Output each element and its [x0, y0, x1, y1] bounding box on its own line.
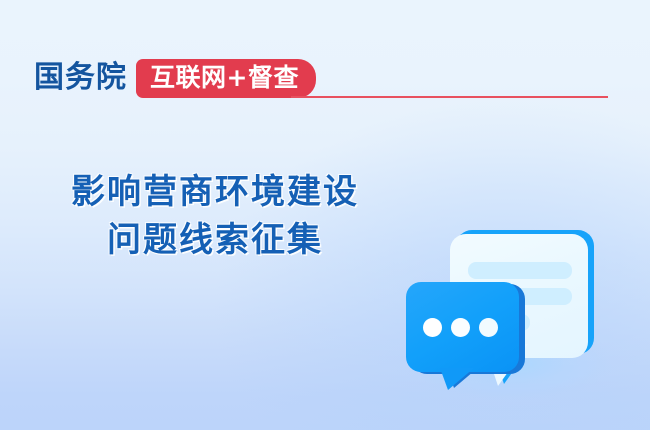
- header: 国务院 互联网+督查: [34, 58, 316, 98]
- typing-dot-icon: [423, 318, 442, 337]
- banner: 国务院 互联网+督查 影响营商环境建设 问题线索征集: [0, 0, 650, 430]
- typing-dot-icon: [479, 318, 498, 337]
- header-divider-rule: [291, 96, 608, 98]
- front-bubble-tail: [440, 368, 474, 390]
- back-bubble-text-bar: [468, 262, 572, 279]
- internet-supervision-badge: 互联网+督查: [136, 59, 316, 98]
- gov-council-label: 国务院: [34, 63, 127, 93]
- title-line-1: 影响营商环境建设: [0, 168, 430, 216]
- typing-dot-icon: [451, 318, 470, 337]
- title-line-2: 问题线索征集: [0, 216, 430, 264]
- chat-bubbles-illustration: [398, 222, 614, 400]
- badge-label: 互联网+督查: [150, 65, 299, 90]
- page-title: 影响营商环境建设 问题线索征集: [0, 168, 430, 264]
